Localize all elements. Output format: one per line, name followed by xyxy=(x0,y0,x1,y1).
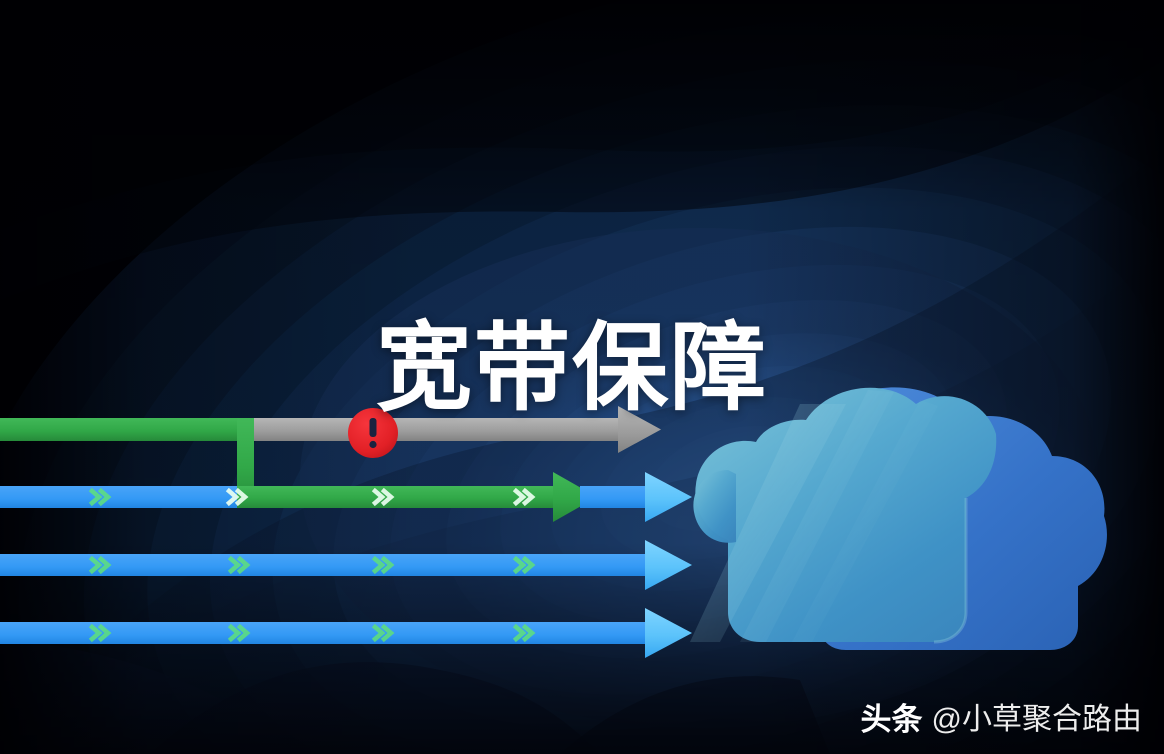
page-title: 宽带保障 xyxy=(376,316,796,422)
lane-4-active-link xyxy=(0,608,692,658)
cloud-front-layer xyxy=(695,388,996,642)
lane-2-green-segment xyxy=(237,486,557,508)
lane-1-green-segment xyxy=(0,418,253,441)
cloud-icon xyxy=(690,387,1107,650)
lane-2-blue-arrowhead xyxy=(645,472,692,522)
lane-2-rerouted-link xyxy=(0,472,692,522)
poster-canvas: 宽带保障 头条 @小草聚合路由 xyxy=(0,0,1164,754)
lane-4-blue-arrowhead xyxy=(645,608,692,658)
watermark-handle: @小草聚合路由 xyxy=(932,701,1142,739)
lane-2-blue-input xyxy=(0,486,240,508)
lane-3-active-link xyxy=(0,540,692,590)
lane-2-blue-output xyxy=(580,486,646,508)
watermark: 头条 @小草聚合路由 xyxy=(861,700,1142,740)
lane-3-blue-arrowhead xyxy=(645,540,692,590)
watermark-brand: 头条 xyxy=(861,701,923,739)
